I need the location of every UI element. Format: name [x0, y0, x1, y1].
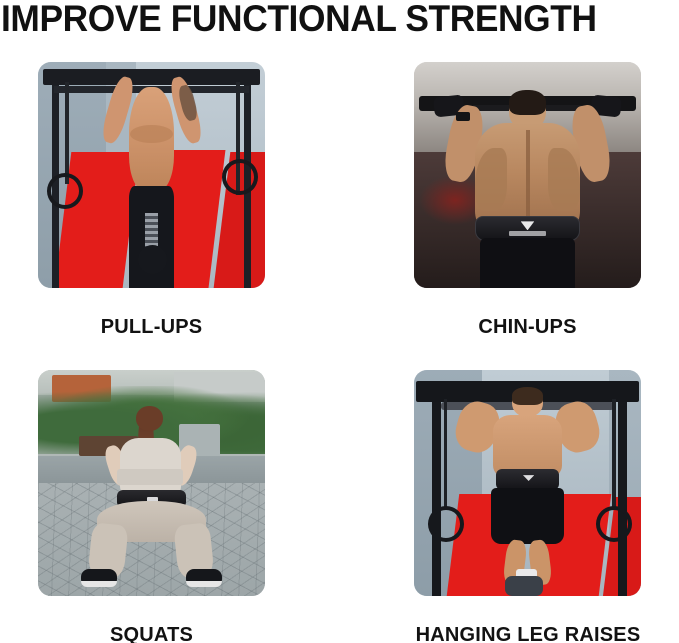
shoe-sole-left	[81, 581, 117, 586]
exercise-card-squats[interactable]: SQUATS	[38, 370, 265, 643]
exercise-card-chin-ups[interactable]: CHIN-UPS	[414, 62, 641, 339]
exercise-card-hanging-leg-raises[interactable]: HANGING LEG RAISES	[414, 370, 641, 643]
athlete-shorts	[491, 488, 564, 545]
gym-ring-right	[596, 506, 632, 542]
athlete-head	[136, 406, 163, 431]
ring-strap-right	[612, 399, 616, 507]
athlete-sports-bra	[117, 469, 183, 485]
exercise-grid: PULL-UPS	[38, 62, 641, 628]
exercise-caption: SQUATS	[38, 624, 265, 643]
pull-up-bar	[43, 69, 261, 85]
rig-post-right	[618, 381, 627, 596]
athlete-hair	[512, 387, 544, 405]
ring-strap-left	[65, 82, 69, 184]
gym-ring-left	[428, 506, 464, 542]
athlete-shorts	[480, 238, 575, 288]
page-title: IMPROVE FUNCTIONAL STRENGTH	[1, 0, 648, 40]
athlete-hair	[509, 90, 545, 115]
exercise-caption: HANGING LEG RAISES	[378, 624, 678, 643]
shoe-sole-right	[186, 581, 222, 586]
pull-ups-photo[interactable]	[38, 62, 265, 288]
wrist-watch	[456, 112, 470, 121]
rig-post-left	[432, 381, 441, 596]
athlete-shoe	[505, 576, 544, 596]
belt-brand-text	[509, 231, 545, 236]
squats-photo[interactable]	[38, 370, 265, 596]
exercise-card-pull-ups[interactable]: PULL-UPS	[38, 62, 265, 339]
hanging-leg-raises-photo[interactable]	[414, 370, 641, 596]
exercise-caption: CHIN-UPS	[414, 316, 641, 339]
gym-ring-left	[47, 173, 83, 209]
chin-ups-photo[interactable]	[414, 62, 641, 288]
ring-strap-left	[444, 399, 448, 507]
athlete-lat-left	[475, 148, 507, 211]
athlete-spine-line	[526, 130, 530, 225]
infographic-page: IMPROVE FUNCTIONAL STRENGTH	[0, 0, 679, 643]
exercise-caption: PULL-UPS	[38, 316, 265, 339]
athlete-back	[120, 438, 181, 497]
